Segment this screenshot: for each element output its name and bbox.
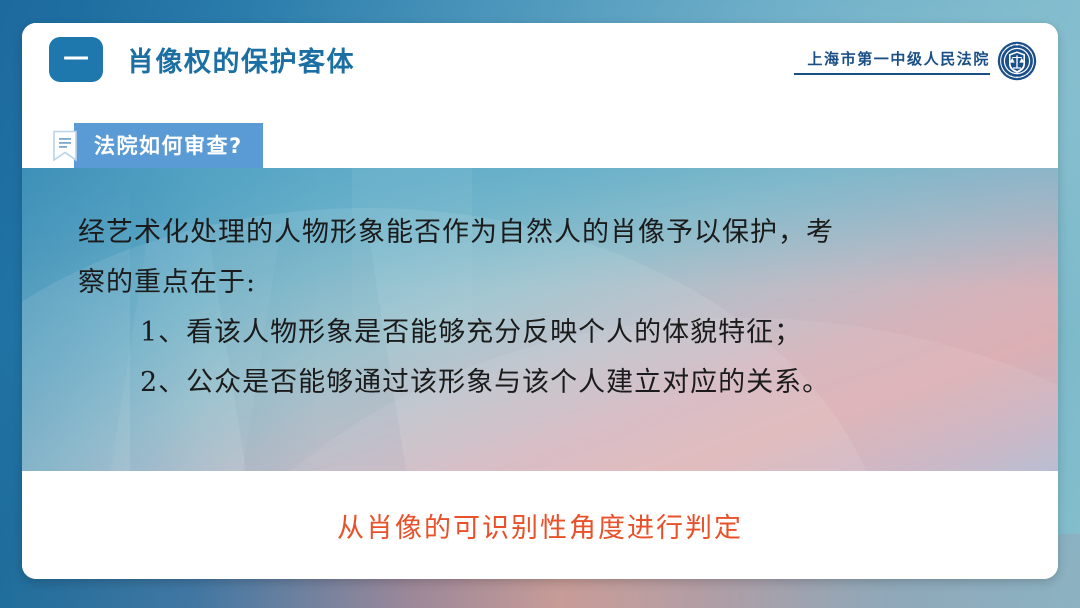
court-name-label: 上海市第一中级人民法院 [807,48,990,69]
court-seal-icon [997,41,1037,81]
slide-header: 一 肖像权的保护客体 上海市第一中级人民法院 [22,23,1058,168]
court-name-group: 上海市第一中级人民法院 [794,48,990,75]
slide-root: 一 肖像权的保护客体 上海市第一中级人民法院 [0,0,1080,608]
body-line-2: 察的重点在于: [78,258,1002,308]
section-number-label: 一 [63,47,88,72]
subtitle-badge: 法院如何审查? [74,123,263,169]
page-title: 肖像权的保护客体 [127,40,355,79]
section-number-badge: 一 [49,37,103,82]
bookmark-list-icon [52,130,78,162]
court-logo: 上海市第一中级人民法院 [794,41,1037,81]
body-list-item-1: 1、看该人物形象是否能够充分反映个人的体貌特征； [78,308,1002,358]
section-title-group: 一 肖像权的保护客体 [49,37,355,82]
body-line-1: 经艺术化处理的人物形象能否作为自然人的肖像予以保护，考 [78,208,1002,258]
court-name-underline [794,73,990,75]
slide-card: 一 肖像权的保护客体 上海市第一中级人民法院 [22,23,1058,579]
conclusion-panel: 从肖像的可识别性角度进行判定 [22,471,1058,579]
content-panel: 经艺术化处理的人物形象能否作为自然人的肖像予以保护，考 察的重点在于: 1、看该… [22,168,1058,471]
subtitle-group: 法院如何审查? [52,123,263,169]
body-list-item-2: 2、公众是否能够通过该形象与该个人建立对应的关系。 [78,358,1002,408]
body-text: 经艺术化处理的人物形象能否作为自然人的肖像予以保护，考 察的重点在于: 1、看该… [22,168,1058,408]
conclusion-text: 从肖像的可识别性角度进行判定 [337,506,743,545]
